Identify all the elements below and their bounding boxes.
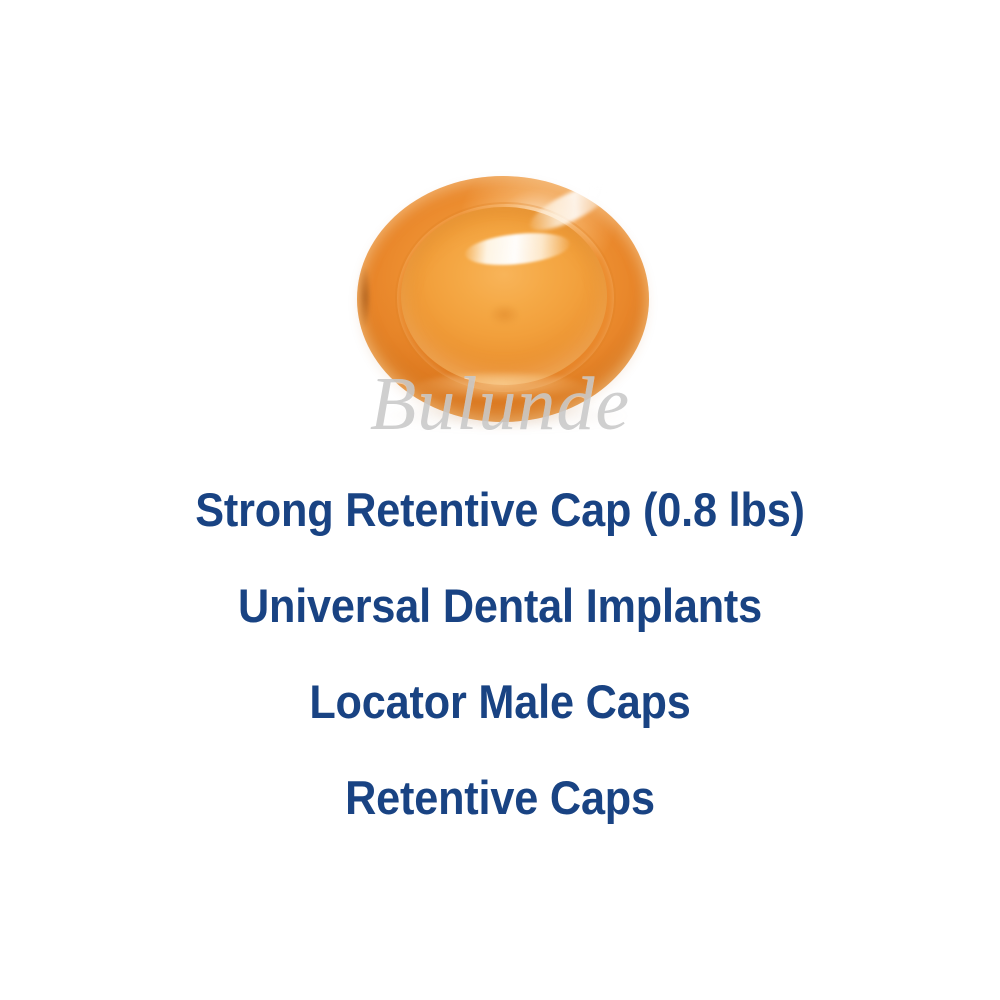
caption-line-subcategory: Retentive Caps [40,750,960,846]
cap-center-dimple [491,305,518,325]
cap-bottom-sheen [415,373,584,400]
cap-left-edge-shading [358,265,370,329]
product-photo: Bulunde [0,0,1000,460]
caption-line-compatibility: Universal Dental Implants [40,558,960,654]
caption-block: Strong Retentive Cap (0.8 lbs) Universal… [0,462,1000,846]
product-listing-image: Bulunde Strong Retentive Cap (0.8 lbs) U… [0,0,1000,1000]
retentive-cap-product [357,176,649,422]
cap-inner-bowl [401,207,607,385]
caption-line-category: Locator Male Caps [40,654,960,750]
caption-line-product-title: Strong Retentive Cap (0.8 lbs) [40,462,960,558]
